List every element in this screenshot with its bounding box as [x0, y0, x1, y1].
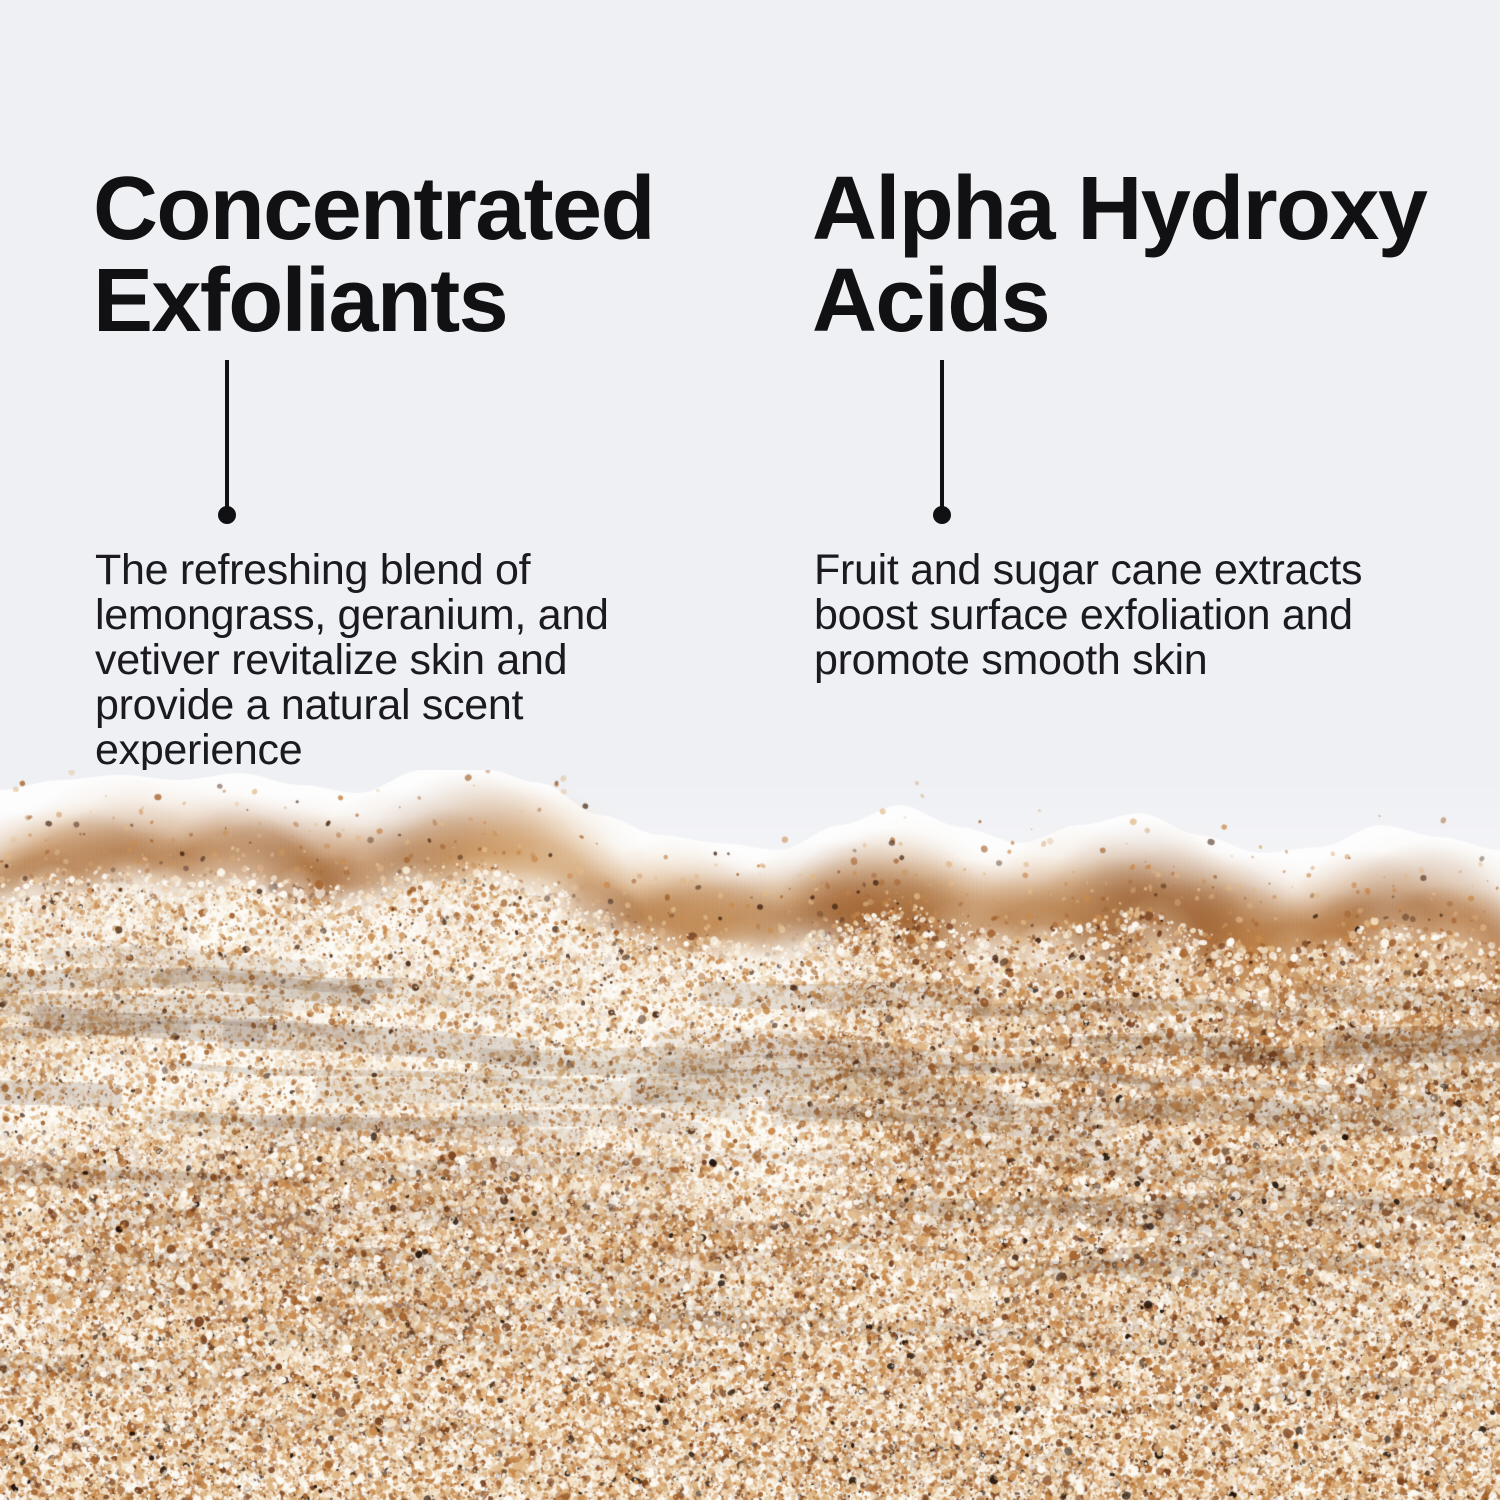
connector-line-dot-icon: [930, 360, 952, 535]
benefit-column-alpha-hydroxy-acids: Alpha Hydroxy Acids Fruit and sugar cane…: [812, 0, 1432, 800]
benefit-heading: Alpha Hydroxy Acids: [812, 163, 1426, 347]
connector-dot-icon: [933, 506, 951, 524]
connector-line-dot-icon: [215, 360, 237, 535]
connector-dot-icon: [218, 506, 236, 524]
sugar-scrub-canvas: [0, 770, 1500, 1500]
sugar-scrub-texture-image: [0, 770, 1500, 1500]
benefit-column-concentrated-exfoliants: Concentrated Exfoliants The refreshing b…: [93, 0, 693, 800]
benefit-body-text: The refreshing blend of lemongrass, gera…: [95, 548, 609, 773]
benefit-body-text: Fruit and sugar cane extracts boost surf…: [814, 548, 1362, 683]
infographic-page: Concentrated Exfoliants The refreshing b…: [0, 0, 1500, 1500]
benefit-heading: Concentrated Exfoliants: [93, 163, 654, 347]
connector-line: [940, 360, 944, 511]
connector-line: [225, 360, 229, 511]
